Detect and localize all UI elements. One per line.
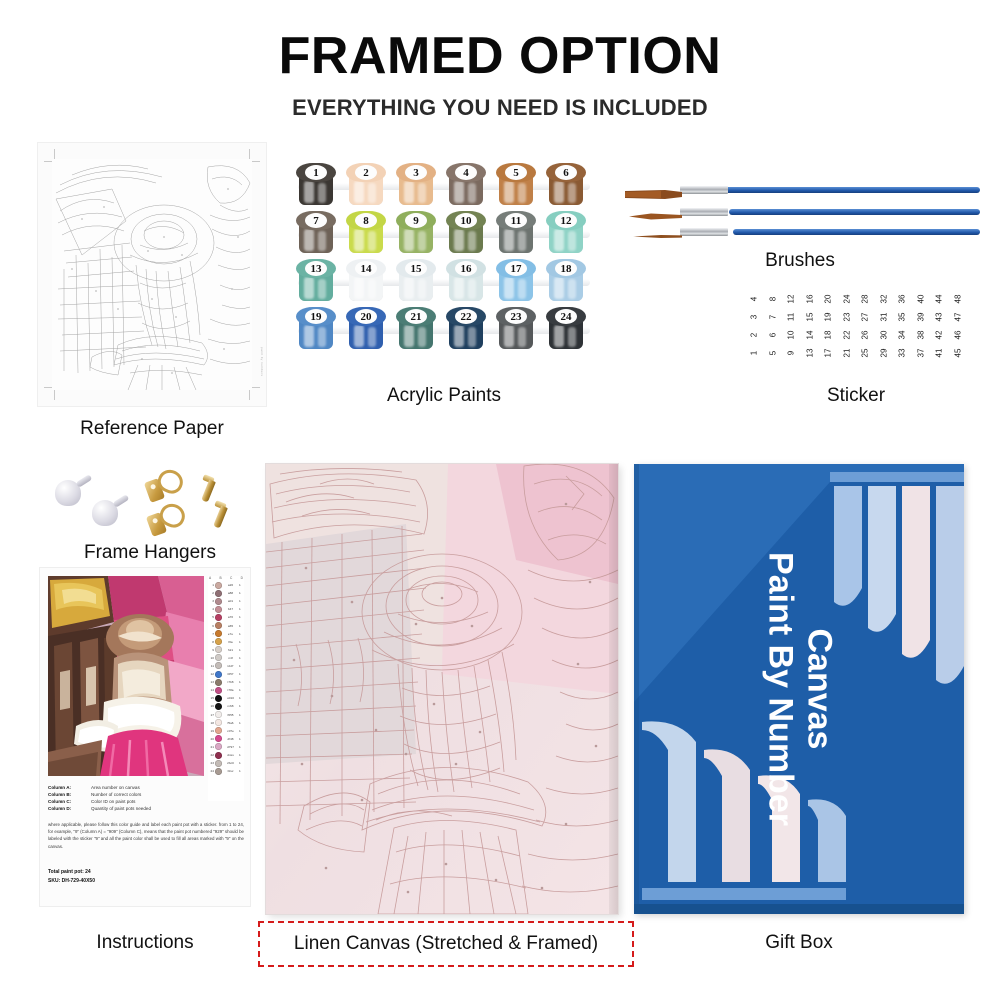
legend-color-id: e7e bbox=[223, 632, 238, 636]
sticker-number-14[interactable]: 14 bbox=[800, 327, 818, 344]
sticker-column: 48474645 bbox=[949, 290, 966, 362]
sticker-sheet: 4321876512111091615141320191817242322212… bbox=[745, 290, 967, 362]
column-key: Column A: bbox=[48, 784, 86, 791]
sticker-number-43[interactable]: 43 bbox=[930, 309, 948, 326]
sticker-number-3[interactable]: 3 bbox=[745, 309, 763, 326]
page-title: FRAMED OPTION bbox=[0, 26, 1000, 86]
sticker-number-21[interactable]: 21 bbox=[837, 345, 855, 362]
paint-pot-3[interactable]: 3 bbox=[396, 163, 436, 207]
legend-color-dot bbox=[215, 752, 222, 759]
legend-color-dot bbox=[215, 687, 222, 694]
legend-color-dot bbox=[215, 671, 222, 678]
sticker-number-28[interactable]: 28 bbox=[856, 291, 874, 308]
legend-color-dot bbox=[215, 590, 222, 597]
legend-row: 10n4f1 bbox=[208, 654, 244, 662]
legend-area-number: 10 bbox=[209, 656, 214, 660]
sticker-number-45[interactable]: 45 bbox=[948, 345, 966, 362]
paint-pot-number: 15 bbox=[396, 259, 436, 278]
sticker-number-18[interactable]: 18 bbox=[819, 327, 837, 344]
paint-pot-13[interactable]: 13 bbox=[296, 259, 336, 303]
legend-color-dot bbox=[215, 598, 222, 605]
sticker-number-34[interactable]: 34 bbox=[893, 327, 911, 344]
paint-pot-23[interactable]: 23 bbox=[496, 307, 536, 351]
paint-pot-number: 18 bbox=[546, 259, 586, 278]
sticker-number-35[interactable]: 35 bbox=[893, 309, 911, 326]
sticker-column: 1211109 bbox=[782, 290, 799, 362]
paint-pot-2[interactable]: 2 bbox=[346, 163, 386, 207]
legend-color-id: a26 bbox=[223, 583, 238, 587]
legend-color-dot bbox=[215, 646, 222, 653]
sticker-number-39[interactable]: 39 bbox=[911, 309, 929, 326]
legend-color-dot bbox=[215, 630, 222, 637]
sticker-number-32[interactable]: 32 bbox=[874, 291, 892, 308]
paint-pot-number: 11 bbox=[496, 211, 536, 230]
legend-color-dot bbox=[215, 743, 222, 750]
page-subtitle: EVERYTHING YOU NEED IS INCLUDED bbox=[0, 95, 1000, 121]
sticker-number-15[interactable]: 15 bbox=[800, 309, 818, 326]
paint-pot-20[interactable]: 20 bbox=[346, 307, 386, 351]
instructions-color-preview bbox=[48, 576, 204, 776]
legend-color-id: a88 bbox=[223, 591, 238, 595]
legend-quantity: 1 bbox=[239, 615, 243, 619]
paint-pot-number: 2 bbox=[346, 163, 386, 182]
sticker-number-29[interactable]: 29 bbox=[874, 345, 892, 362]
sticker-number-22[interactable]: 22 bbox=[837, 327, 855, 344]
legend-area-number: 21 bbox=[209, 745, 214, 749]
sticker-number-11[interactable]: 11 bbox=[782, 309, 800, 326]
legend-color-dot bbox=[215, 622, 222, 629]
legend-color-id: a65 bbox=[223, 624, 238, 628]
brushes-group bbox=[625, 168, 980, 243]
caption-gift-box: Gift Box bbox=[634, 932, 964, 954]
sticker-number-4[interactable]: 4 bbox=[745, 291, 763, 308]
sticker-number-31[interactable]: 31 bbox=[874, 309, 892, 326]
legend-row: 2a881 bbox=[208, 589, 244, 597]
legend-color-id: t7b8 bbox=[223, 680, 238, 684]
frame-hangers-group bbox=[55, 468, 255, 548]
instructions-color-legend: ABCD1a2612a8813a0114b4715a7016a6517e7e18… bbox=[208, 576, 244, 801]
paint-pot-number: 4 bbox=[446, 163, 486, 182]
legend-color-id: h21 bbox=[223, 648, 238, 652]
sticker-number-33[interactable]: 33 bbox=[893, 345, 911, 362]
paint-pot-7[interactable]: 7 bbox=[296, 211, 336, 255]
sticker-number-20[interactable]: 20 bbox=[819, 291, 837, 308]
legend-quantity: 1 bbox=[239, 607, 243, 611]
paint-pot-number: 8 bbox=[346, 211, 386, 230]
paint-pot-row: 131415161718 bbox=[296, 259, 592, 305]
legend-color-id: bhw bbox=[223, 769, 238, 773]
legend-color-dot bbox=[215, 760, 222, 767]
legend-color-dot bbox=[215, 582, 222, 589]
paint-pot-16[interactable]: 16 bbox=[446, 259, 486, 303]
paint-pot-8[interactable]: 8 bbox=[346, 211, 386, 255]
legend-quantity: 1 bbox=[239, 591, 243, 595]
sticker-number-9[interactable]: 9 bbox=[782, 345, 800, 362]
legend-quantity: 1 bbox=[239, 745, 243, 749]
paint-pot-9[interactable]: 9 bbox=[396, 211, 436, 255]
instructions-totals: Total paint pot: 24 SKU: DH-729-40X50 bbox=[48, 868, 244, 886]
paint-pot-1[interactable]: 1 bbox=[296, 163, 336, 207]
sticker-column: 40393837 bbox=[912, 290, 929, 362]
sticker-number-10[interactable]: 10 bbox=[782, 327, 800, 344]
legend-color-dot bbox=[215, 638, 222, 645]
paint-pot-number: 13 bbox=[296, 259, 336, 278]
legend-color-dot bbox=[215, 768, 222, 775]
caption-frame-hangers: Frame Hangers bbox=[40, 542, 260, 564]
paint-pot-number: 16 bbox=[446, 259, 486, 278]
instructions-column-line: Column A:Area number on canvas bbox=[48, 784, 244, 791]
paint-pot-18[interactable]: 18 bbox=[546, 259, 586, 303]
paint-pot-number: 9 bbox=[396, 211, 436, 230]
legend-color-dot bbox=[215, 654, 222, 661]
paint-pot-number: 7 bbox=[296, 211, 336, 230]
paint-pot-number: 1 bbox=[296, 163, 336, 182]
paint-pot-number: 6 bbox=[546, 163, 586, 182]
column-desc: Number of correct colors bbox=[91, 791, 141, 798]
paint-pot-10[interactable]: 10 bbox=[446, 211, 486, 255]
legend-color-id: t78a bbox=[223, 688, 238, 692]
legend-color-id: n4f bbox=[223, 656, 238, 660]
legend-color-id: m68 bbox=[223, 704, 238, 708]
sticker-number-6[interactable]: 6 bbox=[763, 327, 781, 344]
acrylic-paints-group: 123456789101112131415161718192021222324 bbox=[296, 163, 592, 363]
sticker-number-2[interactable]: 2 bbox=[745, 327, 763, 344]
legend-area-number: 7 bbox=[209, 632, 214, 636]
legend-color-dot bbox=[215, 662, 222, 669]
legend-area-number: 9 bbox=[209, 648, 214, 652]
gift-box-label: Canvas Paint By Number bbox=[760, 552, 839, 826]
paint-pot-number: 19 bbox=[296, 307, 336, 326]
caption-sticker: Sticker bbox=[745, 385, 967, 407]
legend-row: 20df481 bbox=[208, 735, 244, 743]
paint-pot-number: 12 bbox=[546, 211, 586, 230]
legend-area-number: 1 bbox=[209, 583, 214, 587]
paint-pot-15[interactable]: 15 bbox=[396, 259, 436, 303]
paint-pot-17[interactable]: 17 bbox=[496, 259, 536, 303]
legend-row: 24bhw1 bbox=[208, 767, 244, 775]
legend-row: 9h211 bbox=[208, 646, 244, 654]
legend-row: 21d7971 bbox=[208, 743, 244, 751]
sticker-column: 32313029 bbox=[875, 290, 892, 362]
sticker-number-23[interactable]: 23 bbox=[837, 309, 855, 326]
caption-acrylic-paints: Acrylic Paints bbox=[296, 385, 592, 407]
legend-quantity: 1 bbox=[239, 632, 243, 636]
paint-pot-4[interactable]: 4 bbox=[446, 163, 486, 207]
sticker-number-27[interactable]: 27 bbox=[856, 309, 874, 326]
legend-area-number: 5 bbox=[209, 615, 214, 619]
sticker-number-24[interactable]: 24 bbox=[837, 291, 855, 308]
sticker-number-47[interactable]: 47 bbox=[948, 309, 966, 326]
legend-row: 19c07e1 bbox=[208, 727, 244, 735]
legend-color-dot bbox=[215, 735, 222, 742]
reference-line-art bbox=[52, 159, 252, 390]
paint-pot-14[interactable]: 14 bbox=[346, 259, 386, 303]
paint-pot-number: 17 bbox=[496, 259, 536, 278]
linen-canvas-highlight: Linen Canvas (Stretched & Framed) bbox=[258, 921, 634, 967]
legend-color-id: c07e bbox=[223, 729, 238, 733]
legend-color-dot bbox=[215, 679, 222, 686]
sticker-number-12[interactable]: 12 bbox=[782, 291, 800, 308]
instructions-column-line: Column D:Quantity of paint pots needed bbox=[48, 805, 244, 812]
column-desc: Color ID on paint pots bbox=[91, 798, 135, 805]
legend-row: 12t6571 bbox=[208, 670, 244, 678]
paint-pot-6[interactable]: 6 bbox=[546, 163, 586, 207]
legend-color-dot bbox=[215, 711, 222, 718]
legend-color-dot bbox=[215, 703, 222, 710]
gift-box-line2: Paint By Number bbox=[760, 552, 799, 826]
paint-pot-number: 23 bbox=[496, 307, 536, 326]
instructions-note: where applicable, please follow this col… bbox=[48, 821, 244, 850]
paint-pot-number: 10 bbox=[446, 211, 486, 230]
legend-quantity: 1 bbox=[239, 769, 243, 773]
sticker-number-17[interactable]: 17 bbox=[819, 345, 837, 362]
legend-quantity: 1 bbox=[239, 753, 243, 757]
legend-area-number: 6 bbox=[209, 624, 214, 628]
legend-quantity: 1 bbox=[239, 672, 243, 676]
paint-pot-12[interactable]: 12 bbox=[546, 211, 586, 255]
legend-color-id: t2d7 bbox=[223, 664, 238, 668]
paint-pot-row: 192021222324 bbox=[296, 307, 592, 353]
sticker-number-46[interactable]: 46 bbox=[948, 327, 966, 344]
legend-area-number: 20 bbox=[209, 737, 214, 741]
sticker-column: 28272625 bbox=[856, 290, 873, 362]
brush-flat bbox=[625, 186, 980, 195]
legend-quantity: 1 bbox=[239, 688, 243, 692]
sticker-number-5[interactable]: 5 bbox=[763, 345, 781, 362]
legend-row: 6a651 bbox=[208, 621, 244, 629]
paint-pot-number: 22 bbox=[446, 307, 486, 326]
legend-quantity: 1 bbox=[239, 729, 243, 733]
legend-area-number: 22 bbox=[209, 753, 214, 757]
caption-brushes: Brushes bbox=[700, 250, 900, 272]
legend-area-number: 17 bbox=[209, 713, 214, 717]
legend-quantity: 1 bbox=[239, 704, 243, 708]
sticker-number-30[interactable]: 30 bbox=[874, 327, 892, 344]
legend-row: 3a011 bbox=[208, 597, 244, 605]
sticker-number-40[interactable]: 40 bbox=[911, 291, 929, 308]
legend-color-id: t657 bbox=[223, 672, 238, 676]
legend-row: 13t7b81 bbox=[208, 678, 244, 686]
sku-value: DH-729-40X50 bbox=[62, 878, 95, 884]
legend-area-number: 19 bbox=[209, 729, 214, 733]
column-key: Column B: bbox=[48, 791, 86, 798]
legend-color-id: d797 bbox=[223, 745, 238, 749]
legend-area-number: 4 bbox=[209, 607, 214, 611]
caption-instructions: Instructions bbox=[40, 932, 250, 954]
legend-color-id: dnss bbox=[223, 753, 238, 757]
paint-pot-number: 20 bbox=[346, 307, 386, 326]
legend-quantity: 1 bbox=[239, 761, 243, 765]
legend-quantity: 1 bbox=[239, 640, 243, 644]
sticker-column: 16151413 bbox=[801, 290, 818, 362]
legend-area-number: 23 bbox=[209, 761, 214, 765]
legend-area-number: 14 bbox=[209, 688, 214, 692]
sticker-number-48[interactable]: 48 bbox=[948, 291, 966, 308]
legend-quantity: 1 bbox=[239, 583, 243, 587]
linen-canvas-image bbox=[266, 464, 618, 914]
paint-pot-11[interactable]: 11 bbox=[496, 211, 536, 255]
legend-row: 11t2d71 bbox=[208, 662, 244, 670]
legend-color-id: a01 bbox=[223, 599, 238, 603]
sticker-number-19[interactable]: 19 bbox=[819, 309, 837, 326]
legend-quantity: 1 bbox=[239, 737, 243, 741]
legend-color-id: f5a6 bbox=[223, 721, 238, 725]
legend-color-id: df48 bbox=[223, 737, 238, 741]
legend-area-number: 18 bbox=[209, 721, 214, 725]
gift-box-image: Canvas Paint By Number bbox=[634, 464, 964, 914]
legend-color-id: f0a bbox=[223, 640, 238, 644]
legend-color-dot bbox=[215, 727, 222, 734]
caption-reference-paper: Reference Paper bbox=[38, 418, 266, 440]
legend-area-number: 24 bbox=[209, 769, 214, 773]
legend-quantity: 1 bbox=[239, 696, 243, 700]
reference-paper-code: paint by numbers bbox=[260, 347, 264, 376]
paint-pot-number: 24 bbox=[546, 307, 586, 326]
sticker-column: 36353433 bbox=[893, 290, 910, 362]
legend-row: 1a261 bbox=[208, 581, 244, 589]
sticker-number-26[interactable]: 26 bbox=[856, 327, 874, 344]
paint-pot-number: 3 bbox=[396, 163, 436, 182]
sticker-column: 44434241 bbox=[930, 290, 947, 362]
paint-pot-21[interactable]: 21 bbox=[396, 307, 436, 351]
reference-paper-image: paint by numbers bbox=[38, 143, 266, 406]
sticker-number-8[interactable]: 8 bbox=[763, 291, 781, 308]
paint-pot-24[interactable]: 24 bbox=[546, 307, 586, 351]
legend-color-dot bbox=[215, 695, 222, 702]
legend-area-number: 15 bbox=[209, 696, 214, 700]
legend-quantity: 1 bbox=[239, 721, 243, 725]
legend-area-number: 11 bbox=[209, 664, 214, 668]
legend-area-number: 13 bbox=[209, 680, 214, 684]
paint-pot-19[interactable]: 19 bbox=[296, 307, 336, 351]
paint-pot-number: 5 bbox=[496, 163, 536, 182]
legend-quantity: 1 bbox=[239, 599, 243, 603]
product-infographic: FRAMED OPTION EVERYTHING YOU NEED IS INC… bbox=[0, 0, 1000, 1000]
legend-color-dot bbox=[215, 719, 222, 726]
sticker-number-38[interactable]: 38 bbox=[911, 327, 929, 344]
instructions-sheet: ABCD1a2612a8813a0114b4715a7016a6517e7e18… bbox=[40, 568, 250, 906]
legend-area-number: 8 bbox=[209, 640, 214, 644]
legend-quantity: 1 bbox=[239, 680, 243, 684]
sticker-number-42[interactable]: 42 bbox=[930, 327, 948, 344]
legend-area-number: 16 bbox=[209, 704, 214, 708]
legend-area-number: 12 bbox=[209, 672, 214, 676]
paint-pot-22[interactable]: 22 bbox=[446, 307, 486, 351]
legend-color-id: 2bc0 bbox=[223, 761, 238, 765]
gift-box-line1: Canvas bbox=[799, 552, 838, 826]
legend-quantity: 1 bbox=[239, 664, 243, 668]
sticker-number-7[interactable]: 7 bbox=[763, 309, 781, 326]
sticker-column: 4321 bbox=[745, 290, 762, 362]
legend-row: 16m681 bbox=[208, 702, 244, 710]
column-desc: Quantity of paint pots needed bbox=[91, 805, 151, 812]
legend-color-dot bbox=[215, 614, 222, 621]
sticker-number-44[interactable]: 44 bbox=[930, 291, 948, 308]
legend-row: 232bc01 bbox=[208, 759, 244, 767]
instructions-column-line: Column C:Color ID on paint pots bbox=[48, 798, 244, 805]
legend-area-number: 3 bbox=[209, 599, 214, 603]
legend-quantity: 1 bbox=[239, 648, 243, 652]
legend-color-id: f655 bbox=[223, 713, 238, 717]
brush-liner bbox=[633, 228, 980, 237]
legend-row: 22dnss1 bbox=[208, 751, 244, 759]
sku-label: SKU: bbox=[48, 878, 60, 884]
paint-pot-5[interactable]: 5 bbox=[496, 163, 536, 207]
legend-color-id: b47 bbox=[223, 607, 238, 611]
legend-quantity: 1 bbox=[239, 656, 243, 660]
legend-color-dot bbox=[215, 606, 222, 613]
column-key: Column D: bbox=[48, 805, 86, 812]
sticker-number-37[interactable]: 37 bbox=[911, 345, 929, 362]
legend-row: 15u0101 bbox=[208, 694, 244, 702]
column-key: Column C: bbox=[48, 798, 86, 805]
legend-color-id: u010 bbox=[223, 696, 238, 700]
sticker-number-16[interactable]: 16 bbox=[800, 291, 818, 308]
caption-linen-canvas: Linen Canvas (Stretched & Framed) bbox=[294, 933, 598, 955]
total-paint-pot-label: Total paint pot: bbox=[48, 869, 84, 875]
legend-row: 18f5a61 bbox=[208, 719, 244, 727]
sticker-number-13[interactable]: 13 bbox=[800, 345, 818, 362]
total-paint-pot-value: 24 bbox=[85, 869, 91, 875]
legend-color-id: a70 bbox=[223, 615, 238, 619]
sticker-column: 8765 bbox=[764, 290, 781, 362]
sticker-number-41[interactable]: 41 bbox=[930, 345, 948, 362]
legend-row: 4b471 bbox=[208, 605, 244, 613]
legend-row: 8f0a1 bbox=[208, 638, 244, 646]
legend-row: 17f6551 bbox=[208, 711, 244, 719]
legend-quantity: 1 bbox=[239, 624, 243, 628]
sticker-column: 24232221 bbox=[838, 290, 855, 362]
sticker-column: 20191817 bbox=[819, 290, 836, 362]
legend-area-number: 2 bbox=[209, 591, 214, 595]
sticker-number-1[interactable]: 1 bbox=[745, 345, 763, 362]
paint-pot-number: 14 bbox=[346, 259, 386, 278]
column-desc: Area number on canvas bbox=[91, 784, 140, 791]
legend-row: 14t78a1 bbox=[208, 686, 244, 694]
brush-round bbox=[629, 208, 980, 217]
legend-row: 7e7e1 bbox=[208, 630, 244, 638]
instructions-column-line: Column B:Number of correct colors bbox=[48, 791, 244, 798]
paint-pot-number: 21 bbox=[396, 307, 436, 326]
sticker-number-25[interactable]: 25 bbox=[856, 345, 874, 362]
instructions-column-key: Column A:Area number on canvasColumn B:N… bbox=[48, 784, 244, 812]
legend-row: 5a701 bbox=[208, 613, 244, 621]
paint-pot-row: 789101112 bbox=[296, 211, 592, 257]
paint-pot-row: 123456 bbox=[296, 163, 592, 209]
legend-quantity: 1 bbox=[239, 713, 243, 717]
sticker-number-36[interactable]: 36 bbox=[893, 291, 911, 308]
